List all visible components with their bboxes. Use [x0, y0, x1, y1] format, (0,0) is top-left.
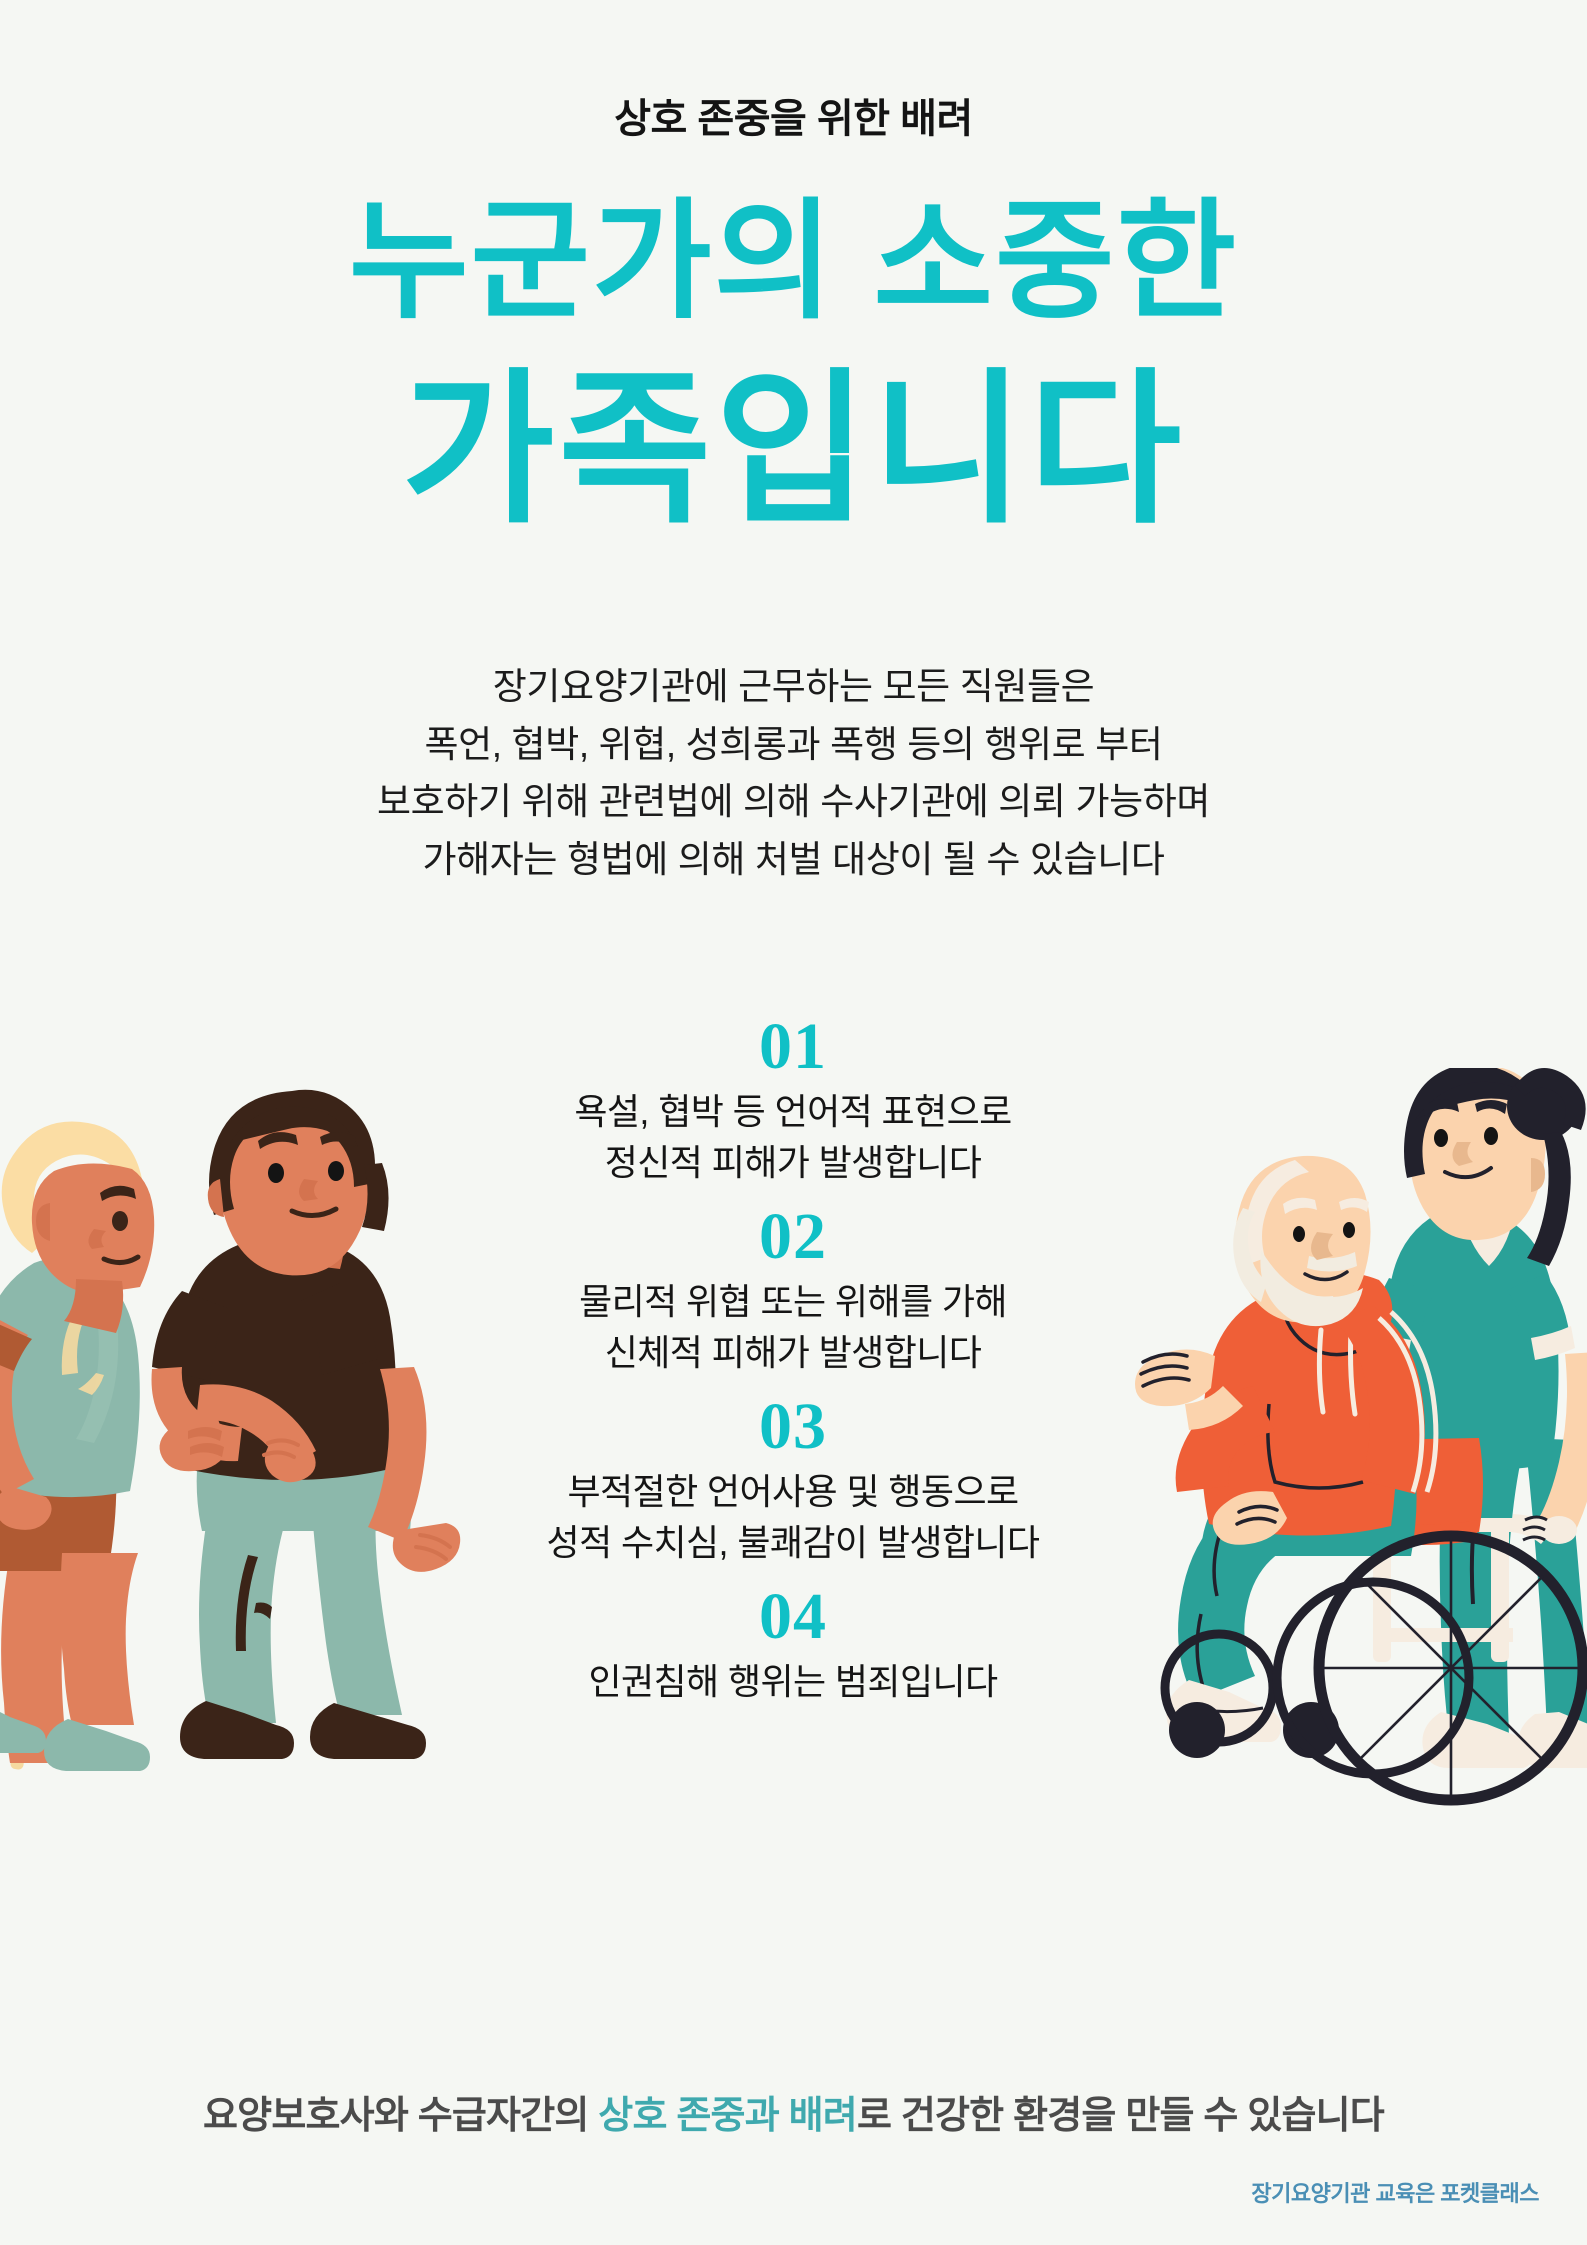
- list-item-line-1: 인권침해 행위는 범죄입니다: [393, 1656, 1193, 1707]
- lead-line-4: 가해자는 형법에 의해 처벌 대상이 될 수 있습니다: [0, 831, 1587, 889]
- footer-text-after: 로 건강한 환경을 만들 수 있습니다: [857, 2095, 1384, 2137]
- list-item: 01 욕설, 협박 등 언어적 표현으로 정신적 피해가 발생합니다: [393, 1008, 1193, 1188]
- list-item: 03 부적절한 언어사용 및 행동으로 성적 수치심, 불쾌감이 발생합니다: [393, 1388, 1193, 1568]
- lead-line-1: 장기요양기관에 근무하는 모든 직원들은: [0, 658, 1587, 716]
- poster-eyebrow: 상호 존중을 위한 배려: [0, 86, 1587, 144]
- footer-message: 요양보호사와 수급자간의 상호 존중과 배려로 건강한 환경을 만들 수 있습니…: [0, 2084, 1587, 2139]
- headline-line-2: 가족입니다: [0, 368, 1587, 534]
- lead-line-3: 보호하기 위해 관련법에 의해 수사기관에 의뢰 가능하며: [0, 773, 1587, 831]
- list-item: 02 물리적 위협 또는 위해를 가해 신체적 피해가 발생합니다: [393, 1198, 1193, 1378]
- list-item-number: 02: [393, 1198, 1193, 1276]
- credit-line: 장기요양기관 교육은 포켓클래스: [1251, 2176, 1539, 2208]
- list-item-line-2: 신체적 피해가 발생합니다: [393, 1327, 1193, 1378]
- lead-paragraph: 장기요양기관에 근무하는 모든 직원들은 폭언, 협박, 위협, 성희롱과 폭행…: [0, 658, 1587, 889]
- list-item-number: 04: [393, 1578, 1193, 1656]
- headline-line-1: 누군가의 소중한: [0, 196, 1587, 326]
- footer-text-accent: 상호 존중과 배려: [598, 2095, 857, 2137]
- list-item-number: 03: [393, 1388, 1193, 1466]
- list-item-line-2: 정신적 피해가 발생합니다: [393, 1137, 1193, 1188]
- list-item: 04 인권침해 행위는 범죄입니다: [393, 1578, 1193, 1707]
- list-item-line-2: 성적 수치심, 불쾌감이 발생합니다: [393, 1517, 1193, 1568]
- list-item-line-1: 물리적 위협 또는 위해를 가해: [393, 1276, 1193, 1327]
- cane-icon: [3, 1481, 63, 1770]
- numbered-list: 01 욕설, 협박 등 언어적 표현으로 정신적 피해가 발생합니다 02 물리…: [393, 1008, 1193, 1717]
- list-item-line-1: 욕설, 협박 등 언어적 표현으로: [393, 1086, 1193, 1137]
- list-item-number: 01: [393, 1008, 1193, 1086]
- list-item-line-1: 부적절한 언어사용 및 행동으로: [393, 1466, 1193, 1517]
- footer-text-before: 요양보호사와 수급자간의: [203, 2095, 598, 2137]
- lead-line-2: 폭언, 협박, 위협, 성희롱과 폭행 등의 행위로 부터: [0, 716, 1587, 774]
- poster-canvas: 상호 존중을 위한 배려 누군가의 소중한 가족입니다 장기요양기관에 근무하는…: [0, 0, 1587, 2245]
